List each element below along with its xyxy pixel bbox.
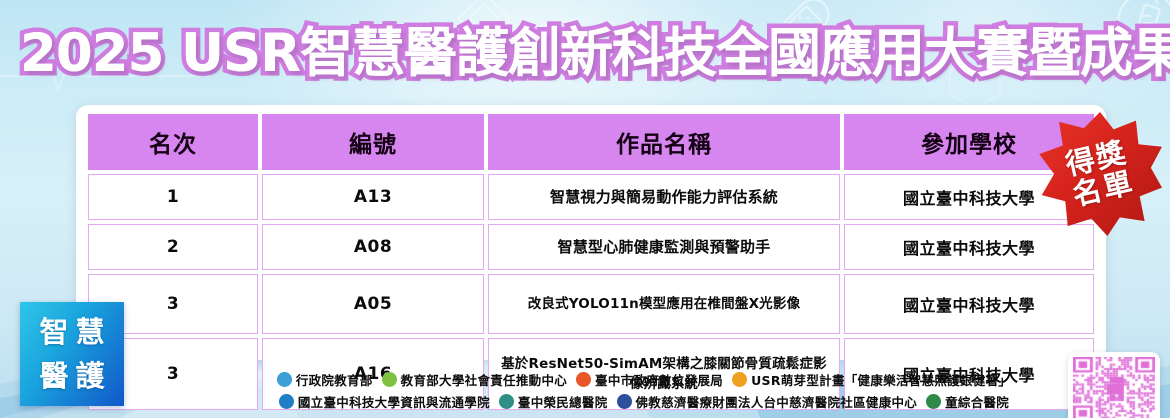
smart-healthcare-logo: 智慧 醫護 — [20, 302, 124, 406]
cell-code: A05 — [262, 274, 484, 334]
column-header-code: 編號 — [262, 114, 484, 170]
column-header-name: 作品名稱 — [488, 114, 840, 170]
sponsor-item: 行政院教育部 — [277, 370, 373, 389]
sponsor-label: 佛教慈濟醫療財團法人台中慈濟醫院社區健康中心 — [636, 392, 918, 411]
cell-code: A13 — [262, 174, 484, 220]
poster-canvas: 2025 USR智慧醫護創新科技全國應用大賽暨成果展 2025 USR智慧醫護創… — [0, 0, 1170, 418]
sponsor-item: 國立臺中科技大學資訊與流通學院 — [279, 392, 490, 411]
qr-code-card[interactable] — [1068, 352, 1160, 418]
qr-code-icon[interactable] — [1073, 357, 1155, 418]
sponsor-label: 童綜合醫院 — [945, 392, 1009, 411]
cell-name: 智慧型心肺健康監測與預警助手 — [488, 224, 840, 270]
logo-line-2: 醫護 — [32, 354, 111, 398]
sponsor-logo-icon — [382, 372, 397, 387]
sponsor-item: 佛教慈濟醫療財團法人台中慈濟醫院社區健康中心 — [617, 392, 918, 411]
cell-rank: 1 — [88, 174, 258, 220]
sponsor-label: USR萌芽型計畫「健康樂活智慧照護銀健署」 — [751, 370, 1011, 389]
sponsor-item: 臺中市政府數位發展局 — [576, 370, 723, 389]
table-row: 2 A08 智慧型心肺健康監測與預警助手 國立臺中科技大學 — [88, 224, 1094, 270]
sponsor-logo-icon — [576, 372, 591, 387]
cell-name: 智慧視力與簡易動作能力評估系統 — [488, 174, 840, 220]
sponsor-item: 童綜合醫院 — [926, 392, 1009, 411]
sponsor-logo-icon — [617, 394, 632, 409]
badge-text: 得獎 名單 — [1026, 100, 1170, 249]
sponsor-label: 臺中榮民總醫院 — [518, 392, 608, 411]
cell-rank: 2 — [88, 224, 258, 270]
page-title: 2025 USR智慧醫護創新科技全國應用大賽暨成果展 — [20, 24, 1160, 84]
sponsor-logo-icon — [279, 394, 294, 409]
sponsor-row-1: 行政院教育部 教育部大學社會責任推動中心 臺中市政府數位發展局 USR萌芽型計畫… — [214, 370, 1074, 389]
sponsor-strip: 行政院教育部 教育部大學社會責任推動中心 臺中市政府數位發展局 USR萌芽型計畫… — [214, 370, 1074, 411]
column-header-rank: 名次 — [88, 114, 258, 170]
cell-school: 國立臺中科技大學 — [844, 274, 1094, 334]
sponsor-label: 臺中市政府數位發展局 — [595, 370, 723, 389]
sponsor-item: 臺中榮民總醫院 — [499, 392, 608, 411]
sponsor-row-2: 國立臺中科技大學資訊與流通學院 臺中榮民總醫院 佛教慈濟醫療財團法人台中慈濟醫院… — [214, 392, 1074, 411]
sponsor-item: USR萌芽型計畫「健康樂活智慧照護銀健署」 — [732, 370, 1011, 389]
sponsor-label: 教育部大學社會責任推動中心 — [401, 370, 567, 389]
sponsor-logo-icon — [926, 394, 941, 409]
sponsor-item: 教育部大學社會責任推動中心 — [382, 370, 567, 389]
cell-code: A08 — [262, 224, 484, 270]
award-list-badge: 得獎 名單 — [1038, 112, 1162, 236]
sponsor-logo-icon — [277, 372, 292, 387]
sponsor-label: 國立臺中科技大學資訊與流通學院 — [298, 392, 490, 411]
table-row: 3 A05 改良式YOLO11n模型應用在椎間盤X光影像 國立臺中科技大學 — [88, 274, 1094, 334]
sponsor-logo-icon — [732, 372, 747, 387]
cell-name: 改良式YOLO11n模型應用在椎間盤X光影像 — [488, 274, 840, 334]
table-row: 1 A13 智慧視力與簡易動作能力評估系統 國立臺中科技大學 — [88, 174, 1094, 220]
results-table: 名次 編號 作品名稱 參加學校 1 A13 智慧視力與簡易動作能力評估系統 國立… — [84, 110, 1098, 414]
logo-line-1: 智慧 — [32, 310, 111, 354]
sponsor-logo-icon — [499, 394, 514, 409]
table-header-row: 名次 編號 作品名稱 參加學校 — [88, 114, 1094, 170]
sponsor-label: 行政院教育部 — [296, 370, 373, 389]
